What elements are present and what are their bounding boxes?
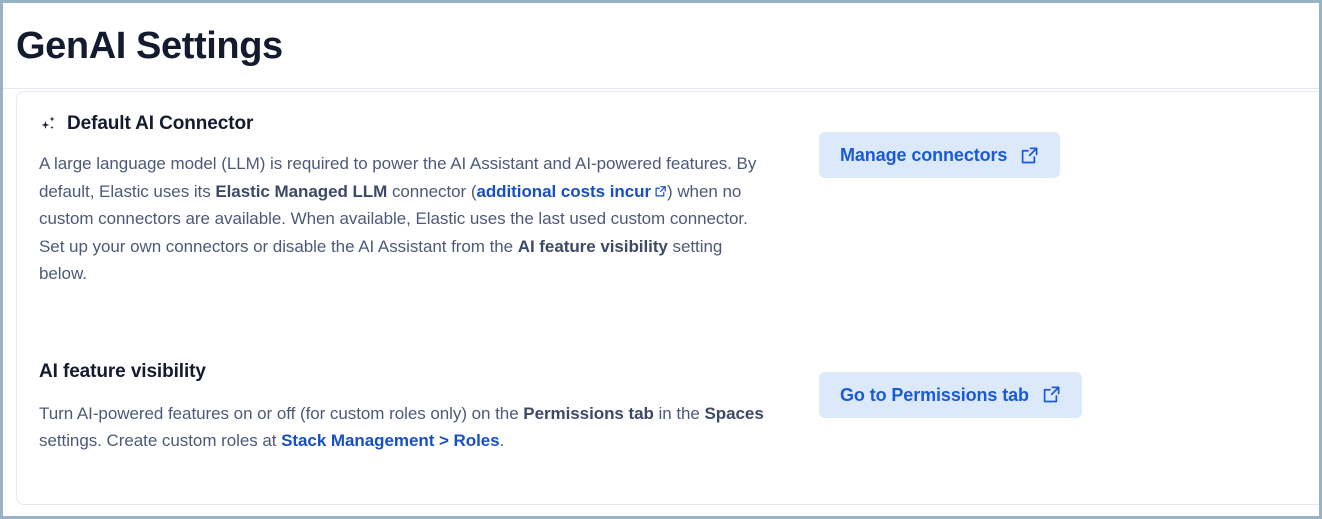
page-header: GenAI Settings xyxy=(3,3,1319,89)
section-default-ai-connector-text: Default AI Connector A large language mo… xyxy=(39,112,771,288)
manage-connectors-button-label: Manage connectors xyxy=(840,144,1007,166)
go-to-permissions-tab-button-label: Go to Permissions tab xyxy=(840,384,1029,406)
paragraph-part-4: . xyxy=(500,431,505,450)
paragraph-part-3: settings. Create custom roles at xyxy=(39,431,281,450)
external-link-icon xyxy=(1020,146,1039,165)
paragraph-part-1: Turn AI-powered features on or off (for … xyxy=(39,404,523,423)
sparkles-icon xyxy=(39,115,58,134)
settings-panel: Default AI Connector A large language mo… xyxy=(16,91,1322,505)
paragraph-bold-ai-feature-visibility: AI feature visibility xyxy=(518,237,668,256)
go-to-permissions-tab-button[interactable]: Go to Permissions tab xyxy=(819,372,1082,418)
section-ai-feature-visibility-heading-label: AI feature visibility xyxy=(39,360,206,384)
section-default-ai-connector: Default AI Connector A large language mo… xyxy=(39,112,1321,288)
section-ai-feature-visibility: AI feature visibility Turn AI-powered fe… xyxy=(39,360,1321,455)
paragraph-bold-spaces: Spaces xyxy=(705,404,764,423)
section-ai-feature-visibility-action: Go to Permissions tab xyxy=(771,360,1082,418)
paragraph-bold-permissions-tab: Permissions tab xyxy=(523,404,654,423)
section-default-ai-connector-paragraph: A large language model (LLM) is required… xyxy=(39,150,771,288)
paragraph-part-2: in the xyxy=(654,404,705,423)
section-default-ai-connector-action: Manage connectors xyxy=(771,112,1060,178)
section-ai-feature-visibility-text: AI feature visibility Turn AI-powered fe… xyxy=(39,360,771,455)
additional-costs-incur-link-label: additional costs incur xyxy=(476,182,651,201)
section-default-ai-connector-heading: Default AI Connector xyxy=(39,112,771,136)
page-title: GenAI Settings xyxy=(3,24,283,68)
section-default-ai-connector-heading-label: Default AI Connector xyxy=(67,112,253,136)
additional-costs-incur-link[interactable]: additional costs incur xyxy=(476,182,667,201)
section-ai-feature-visibility-heading: AI feature visibility xyxy=(39,360,771,384)
section-ai-feature-visibility-paragraph: Turn AI-powered features on or off (for … xyxy=(39,400,771,455)
genai-settings-screen: GenAI Settings xyxy=(0,0,1322,519)
manage-connectors-button[interactable]: Manage connectors xyxy=(819,132,1060,178)
stack-management-roles-link[interactable]: Stack Management > Roles xyxy=(281,431,499,450)
external-link-icon xyxy=(654,185,667,198)
external-link-icon xyxy=(1042,385,1061,404)
section-spacer xyxy=(39,288,1321,360)
paragraph-part-2: connector ( xyxy=(387,182,476,201)
paragraph-bold-elastic-managed-llm: Elastic Managed LLM xyxy=(215,182,387,201)
